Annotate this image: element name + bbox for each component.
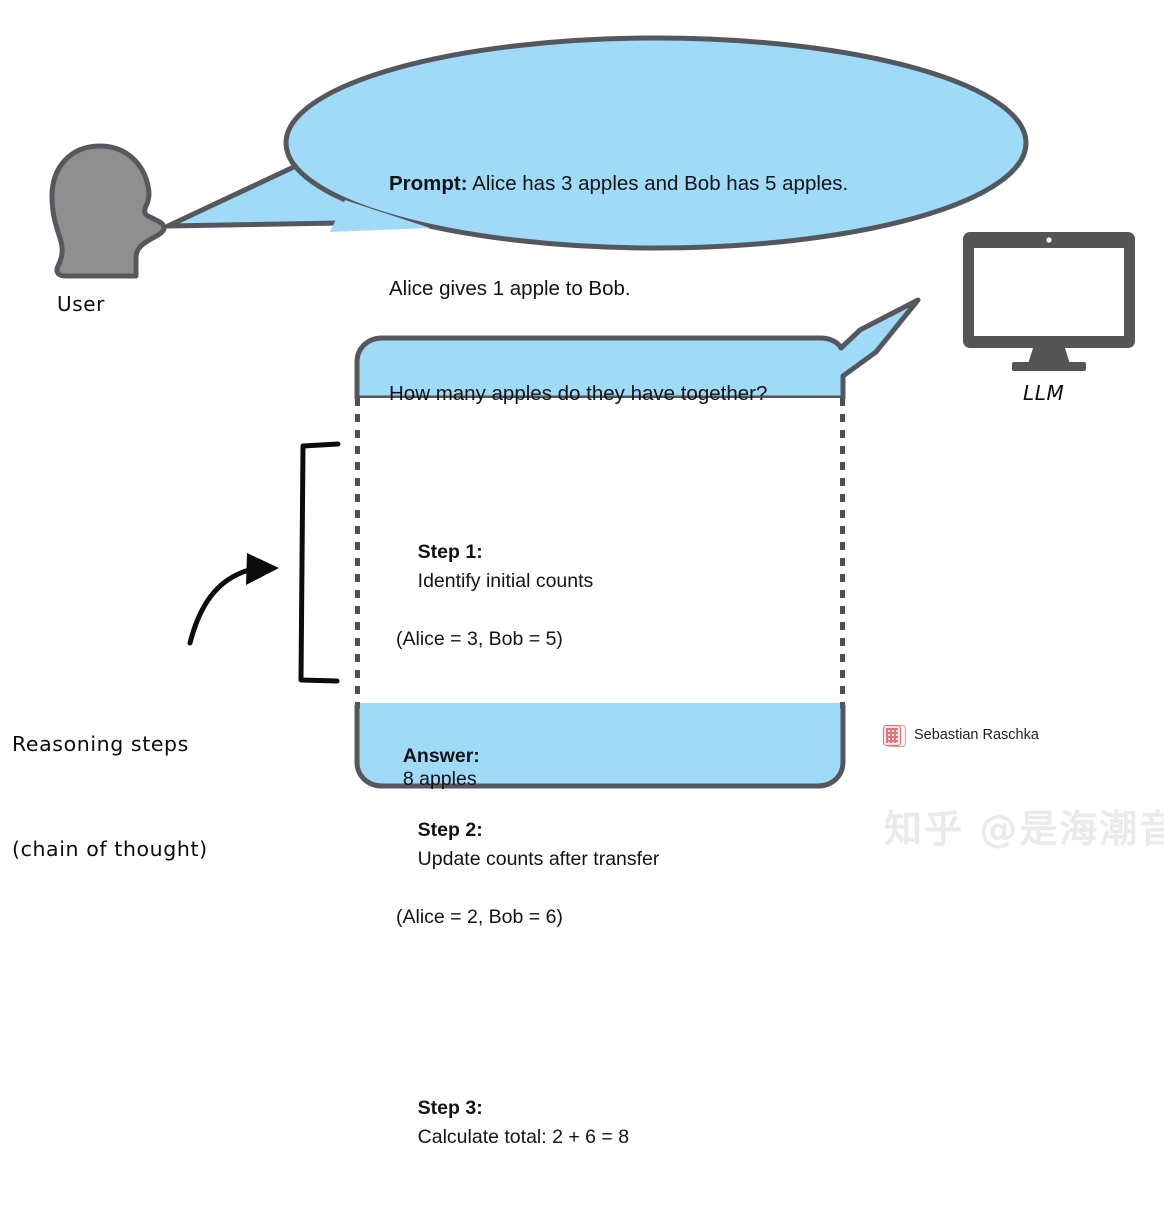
- reasoning-step-3: Step 3: Calculate total: 2 + 6 = 8: [396, 1065, 826, 1181]
- step-3-text: Calculate total: 2 + 6 = 8: [418, 1126, 629, 1148]
- reasoning-step-1: Step 1: Identify initial counts (Alice =…: [396, 509, 826, 712]
- annotation-line-1: Reasoning steps: [12, 727, 208, 762]
- user-label: User: [57, 292, 105, 316]
- book-stack-icon: [883, 724, 905, 746]
- prompt-line-1-text: Alice has 3 apples and Bob has 5 apples.: [472, 172, 848, 195]
- answer-label: Answer:: [403, 745, 480, 767]
- prompt-text: Prompt: Alice has 3 apples and Bob has 5…: [389, 96, 989, 446]
- answer-text: Answer: 8 apples: [392, 722, 480, 791]
- reasoning-steps-annotation-label: Reasoning steps (chain of thought): [12, 657, 208, 902]
- step-2-label: Step 2:: [418, 819, 483, 841]
- reasoning-steps-text: Step 1: Identify initial counts (Alice =…: [396, 451, 826, 1210]
- prompt-label: Prompt:: [389, 172, 468, 195]
- annotation-arrow-icon: [190, 553, 279, 643]
- reasoning-bracket: [301, 444, 338, 681]
- step-1-text: Identify initial counts: [418, 570, 594, 592]
- attribution-name: Sebastian Raschka: [914, 727, 1039, 743]
- step-2-detail: (Alice = 2, Bob = 6): [396, 903, 826, 932]
- user-head-profile-icon: [52, 146, 164, 276]
- step-1-label: Step 1:: [418, 541, 483, 563]
- annotation-line-2: (chain of thought): [12, 832, 208, 867]
- answer-value: 8 apples: [403, 768, 477, 790]
- reasoning-step-2: Step 2: Update counts after transfer (Al…: [396, 787, 826, 990]
- step-3-label: Step 3:: [418, 1097, 483, 1119]
- step-2-text: Update counts after transfer: [418, 848, 660, 870]
- attribution-badge: Sebastian Raschka: [883, 724, 1039, 746]
- prompt-line-3: How many apples do they have together?: [389, 376, 989, 411]
- prompt-line-1: Prompt: Alice has 3 apples and Bob has 5…: [389, 166, 989, 201]
- step-1-detail: (Alice = 3, Bob = 5): [396, 625, 826, 654]
- prompt-line-2: Alice gives 1 apple to Bob.: [389, 271, 989, 306]
- zhihu-watermark: 知乎 @是海潮音: [884, 798, 1164, 853]
- llm-label: LLM: [1023, 381, 1064, 405]
